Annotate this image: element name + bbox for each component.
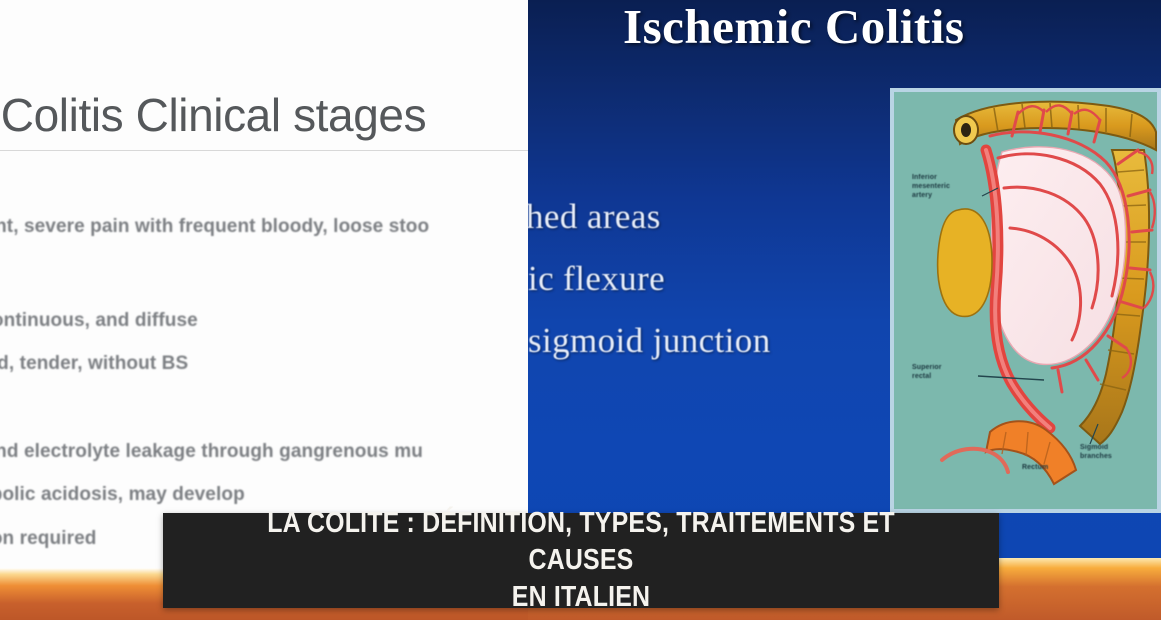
right-slide-title: Ischemic Colitis: [623, 0, 964, 55]
right-slide-bullet: lenic flexure: [528, 259, 665, 299]
caption-banner: La colite : définition, types, traitemen…: [163, 513, 999, 608]
left-slide-body-line: metabolic acidosis, may develop: [0, 484, 245, 506]
figure-label-inferior-mesenteric-artery: Inferior mesenteric artery: [912, 174, 984, 200]
figure-label-superior-rectal: Superior rectal: [912, 364, 978, 382]
left-slide-body-line: g event, severe pain with frequent blood…: [0, 216, 429, 238]
left-slide-body-line: vention required: [0, 528, 96, 550]
colon-blood-supply-figure: Inferior mesenteric artery Superior rect…: [890, 88, 1161, 513]
left-slide-divider: [0, 150, 528, 151]
left-slide-body-line: ore continuous, and diffuse: [0, 310, 198, 332]
left-slide-body-line: tended, tender, without BS: [0, 353, 188, 375]
screenshot-stage: ic Colitis Clinical stages g event, seve…: [0, 0, 1161, 620]
right-slide-bullet: ctosigmoid junction: [528, 321, 771, 361]
caption-title: La colite : définition, types, traitemen…: [222, 505, 941, 616]
figure-label-sigmoid-branches: Sigmoid branches: [1080, 444, 1142, 462]
figure-label-rectum: Rectum: [1022, 464, 1048, 473]
left-slide-title: ic Colitis Clinical stages: [0, 88, 426, 142]
right-slide-bullet: ershed areas: [528, 197, 661, 237]
left-slide-body-line: ein, and electrolyte leakage through gan…: [0, 441, 423, 463]
